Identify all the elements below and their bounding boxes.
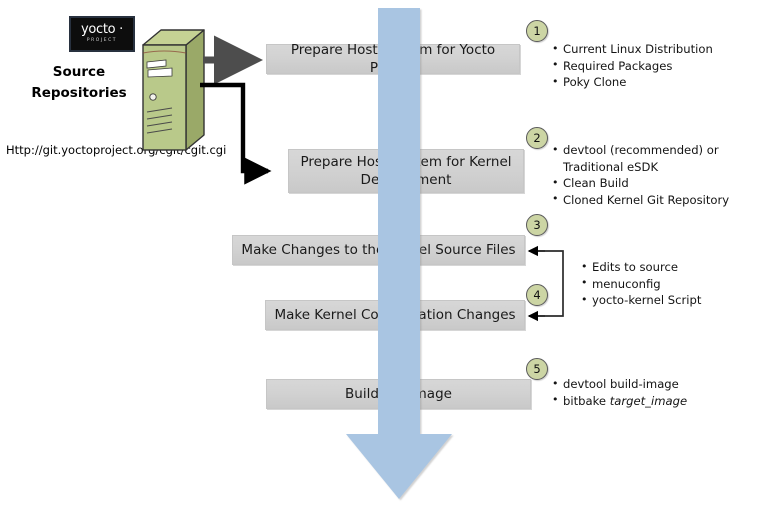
diagram-canvas: yocto · PROJECT Source Repositories Http… <box>0 0 769 517</box>
blue-flow-arrow-shape <box>346 8 452 499</box>
main-flow-arrow <box>0 0 769 517</box>
